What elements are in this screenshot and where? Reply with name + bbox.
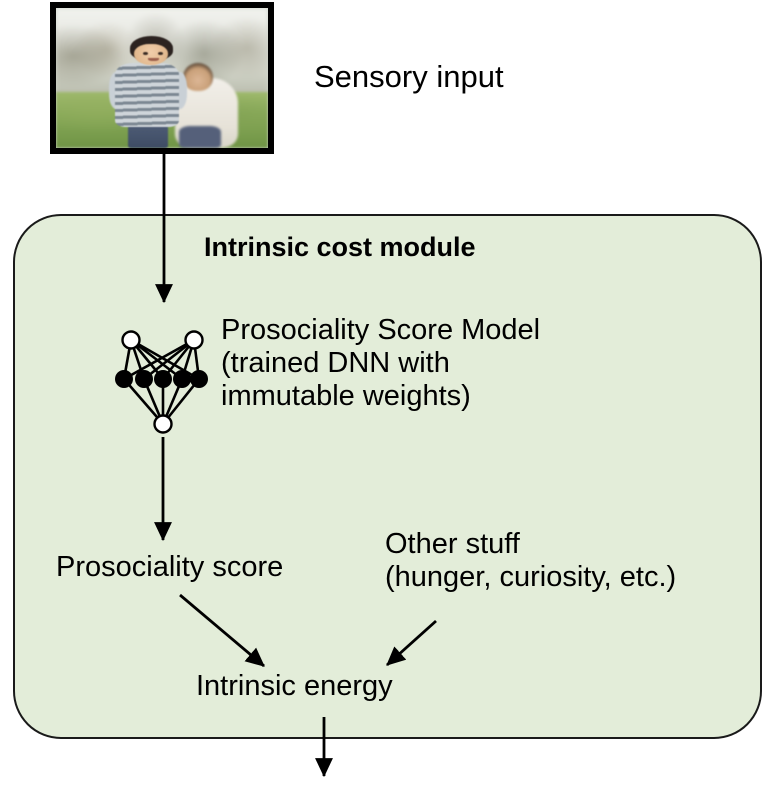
prosociality-score-model-label: Prosociality Score Model (trained DNN wi… — [221, 314, 540, 413]
psm-line-2: (trained DNN with — [221, 347, 450, 379]
intrinsic-energy-label: Intrinsic energy — [196, 670, 393, 703]
photo-adult-legs — [179, 126, 221, 148]
prosociality-score-label: Prosociality score — [56, 551, 283, 584]
intrinsic-cost-module-title: Intrinsic cost module — [204, 232, 476, 263]
psm-line-1: Prosociality Score Model — [221, 314, 540, 346]
psm-line-3: immutable weights) — [221, 380, 471, 412]
other-stuff-label: Other stuff (hunger, curiosity, etc.) — [385, 528, 676, 594]
diagram-canvas: Sensory input Intrinsic cost module — [0, 0, 781, 793]
sensory-input-label: Sensory input — [314, 59, 504, 94]
sensory-input-photo — [50, 2, 274, 154]
intrinsic-cost-module-box — [13, 214, 762, 739]
photo-adult-head — [183, 63, 213, 91]
photo-child-shirt — [115, 63, 179, 127]
other-stuff-line-2: (hunger, curiosity, etc.) — [385, 561, 676, 593]
photo-content — [56, 8, 268, 148]
other-stuff-line-1: Other stuff — [385, 528, 520, 560]
